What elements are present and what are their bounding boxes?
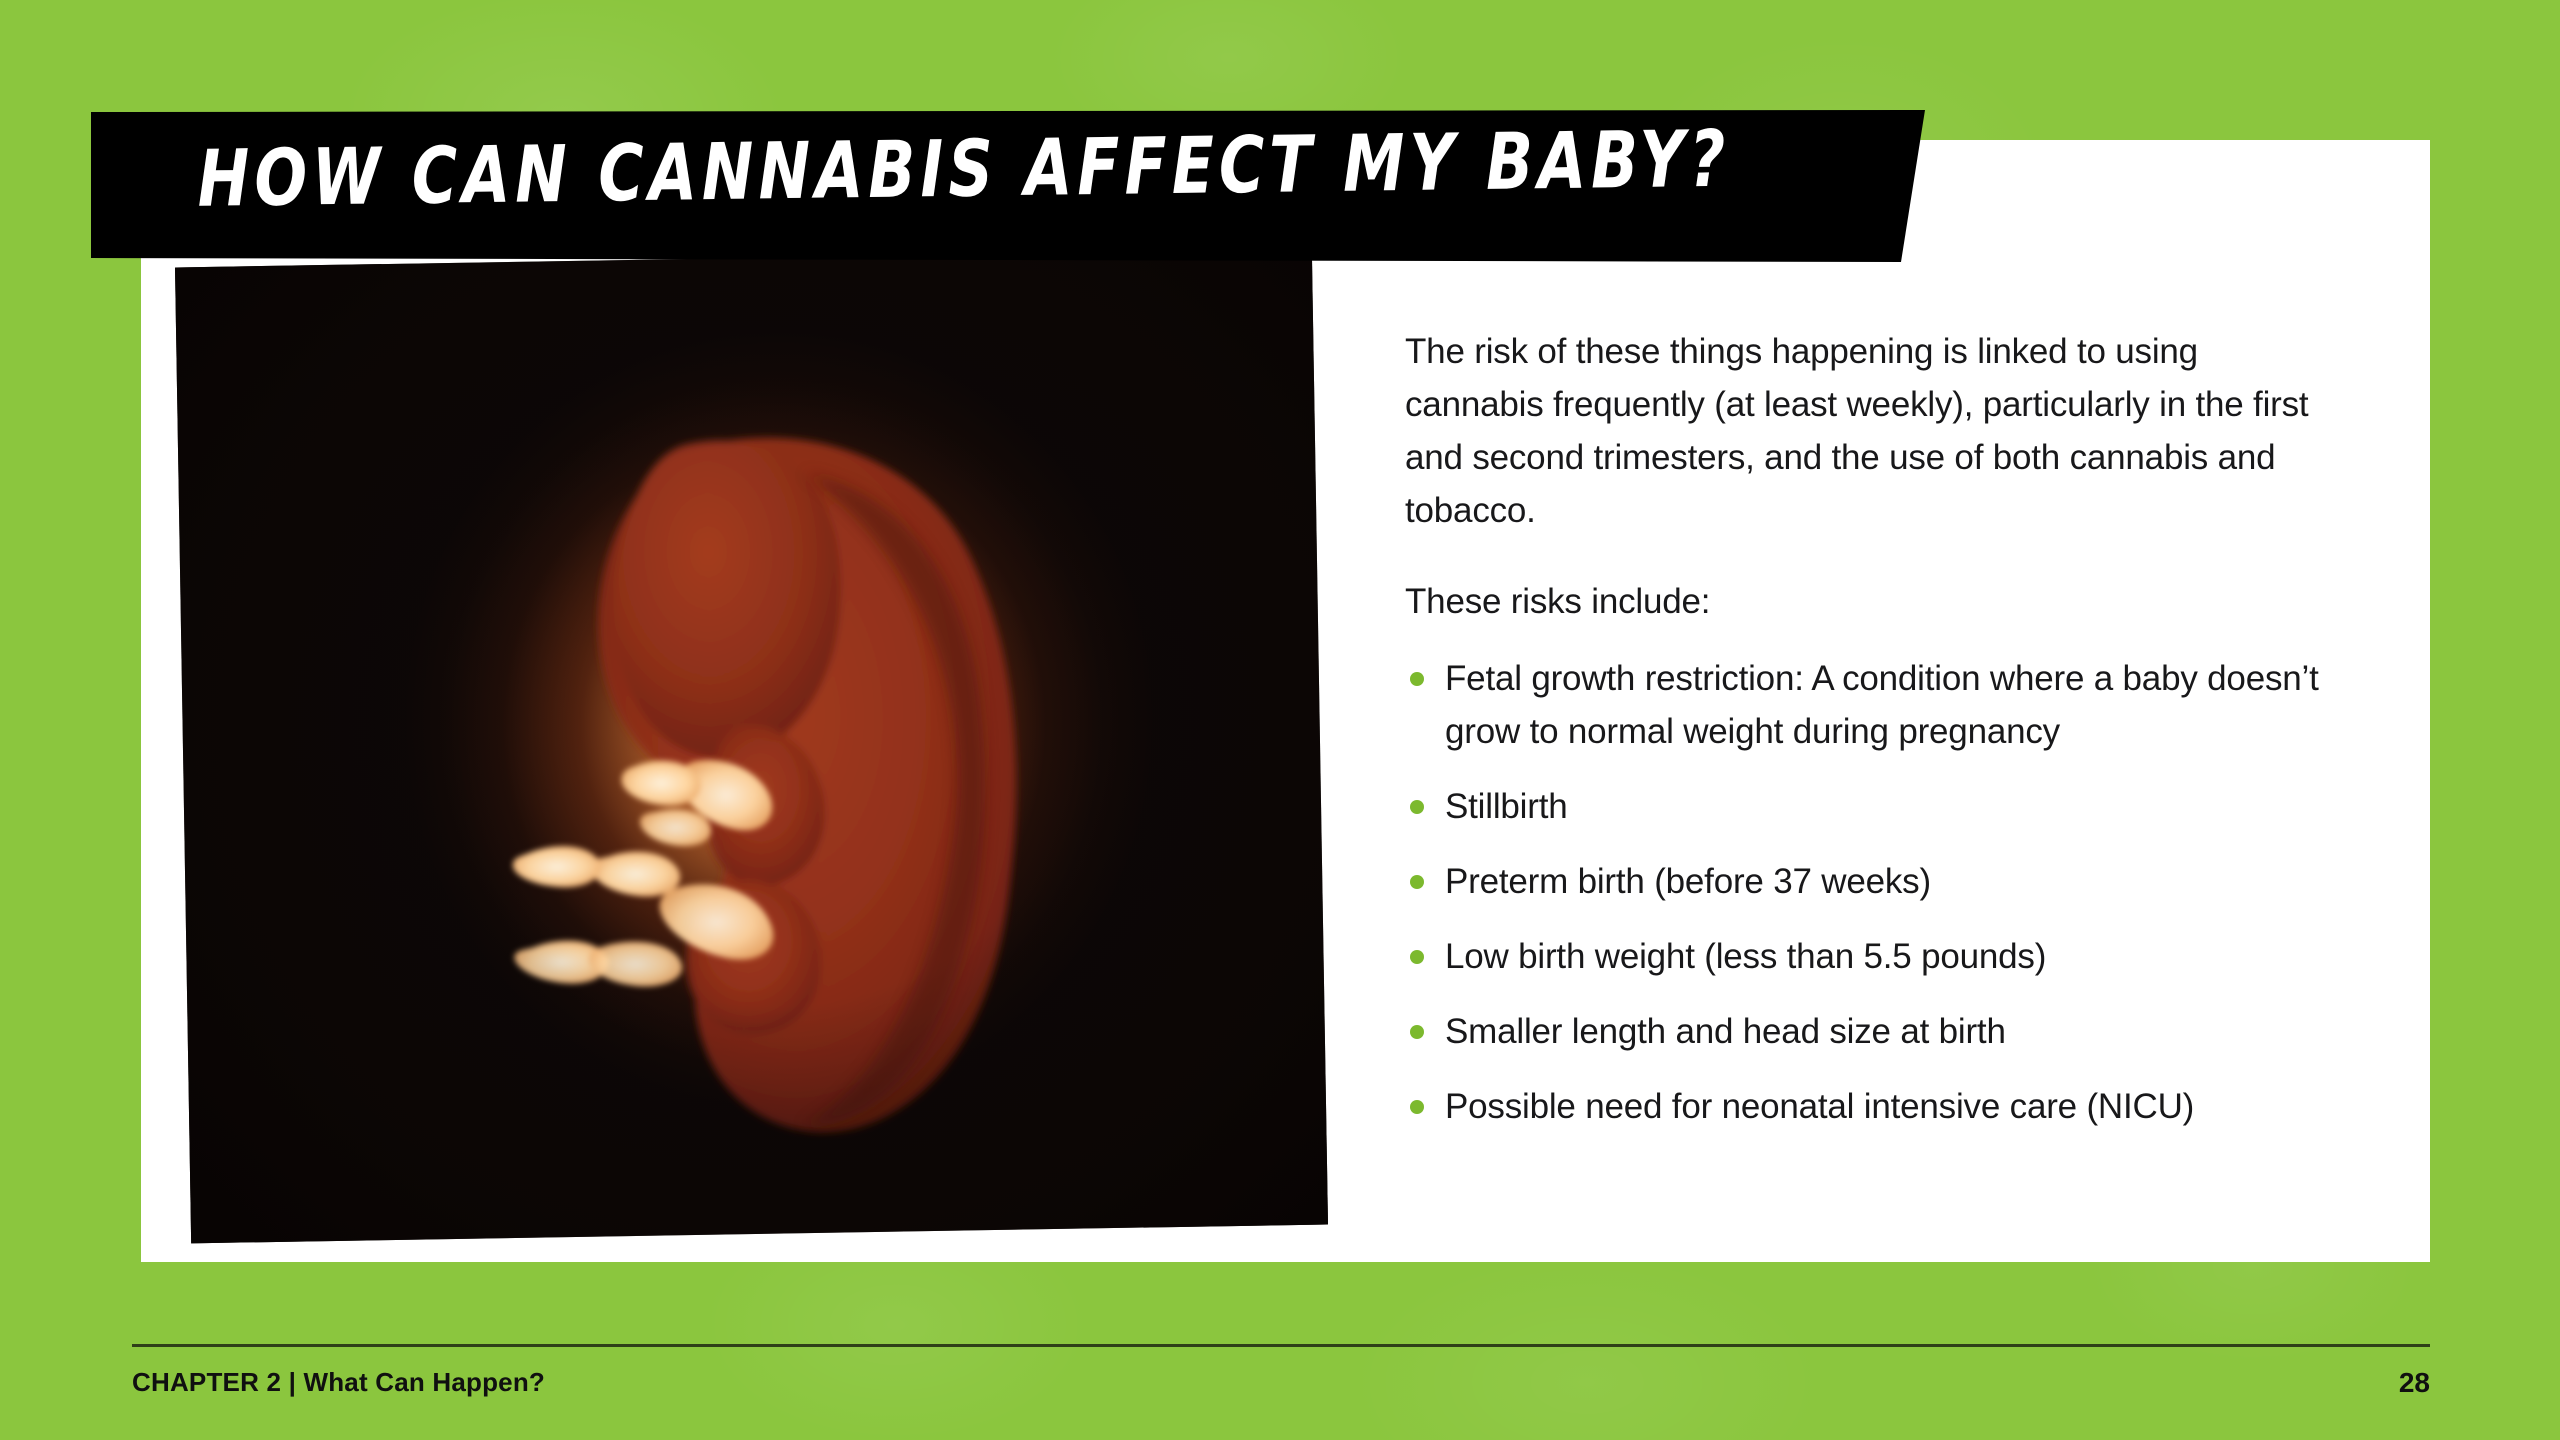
footer-divider	[132, 1344, 2430, 1347]
bullet-dot-icon	[1410, 800, 1424, 814]
fetus-photo-canvas	[175, 249, 1328, 1244]
list-item-label: Fetal growth restriction: A condition wh…	[1445, 659, 2319, 751]
list-item-label: Possible need for neonatal intensive car…	[1445, 1087, 2194, 1126]
title-banner: HOW CAN CANNABIS AFFECT MY BABY?	[91, 110, 1931, 262]
list-item: Low birth weight (less than 5.5 pounds)	[1405, 930, 2345, 983]
list-lead-in: These risks include:	[1405, 575, 2345, 628]
list-item-label: Preterm birth (before 37 weeks)	[1445, 862, 1931, 901]
body-column: The risk of these things happening is li…	[1405, 325, 2345, 1155]
page-title: HOW CAN CANNABIS AFFECT MY BABY?	[197, 115, 1731, 225]
list-item: Smaller length and head size at birth	[1405, 1005, 2345, 1058]
page-root: HOW CAN CANNABIS AFFECT MY BABY? The ris…	[0, 0, 2560, 1440]
bullet-dot-icon	[1410, 875, 1424, 889]
list-item: Fetal growth restriction: A condition wh…	[1405, 652, 2345, 758]
bullet-dot-icon	[1410, 1025, 1424, 1039]
list-item: Stillbirth	[1405, 780, 2345, 833]
bullet-dot-icon	[1410, 1100, 1424, 1114]
list-item: Possible need for neonatal intensive car…	[1405, 1080, 2345, 1133]
list-item-label: Low birth weight (less than 5.5 pounds)	[1445, 937, 2046, 976]
bullet-dot-icon	[1410, 672, 1424, 686]
footer-chapter-label: CHAPTER 2 | What Can Happen?	[132, 1367, 545, 1398]
fetus-photo	[175, 249, 1328, 1244]
intro-paragraph: The risk of these things happening is li…	[1405, 325, 2345, 537]
list-item-label: Smaller length and head size at birth	[1445, 1012, 2006, 1051]
bullet-dot-icon	[1410, 950, 1424, 964]
footer-page-number: 28	[2310, 1367, 2430, 1399]
list-item-label: Stillbirth	[1445, 787, 1567, 826]
photo-vignette	[175, 249, 1328, 1244]
list-item: Preterm birth (before 37 weeks)	[1405, 855, 2345, 908]
risk-list: Fetal growth restriction: A condition wh…	[1405, 652, 2345, 1133]
